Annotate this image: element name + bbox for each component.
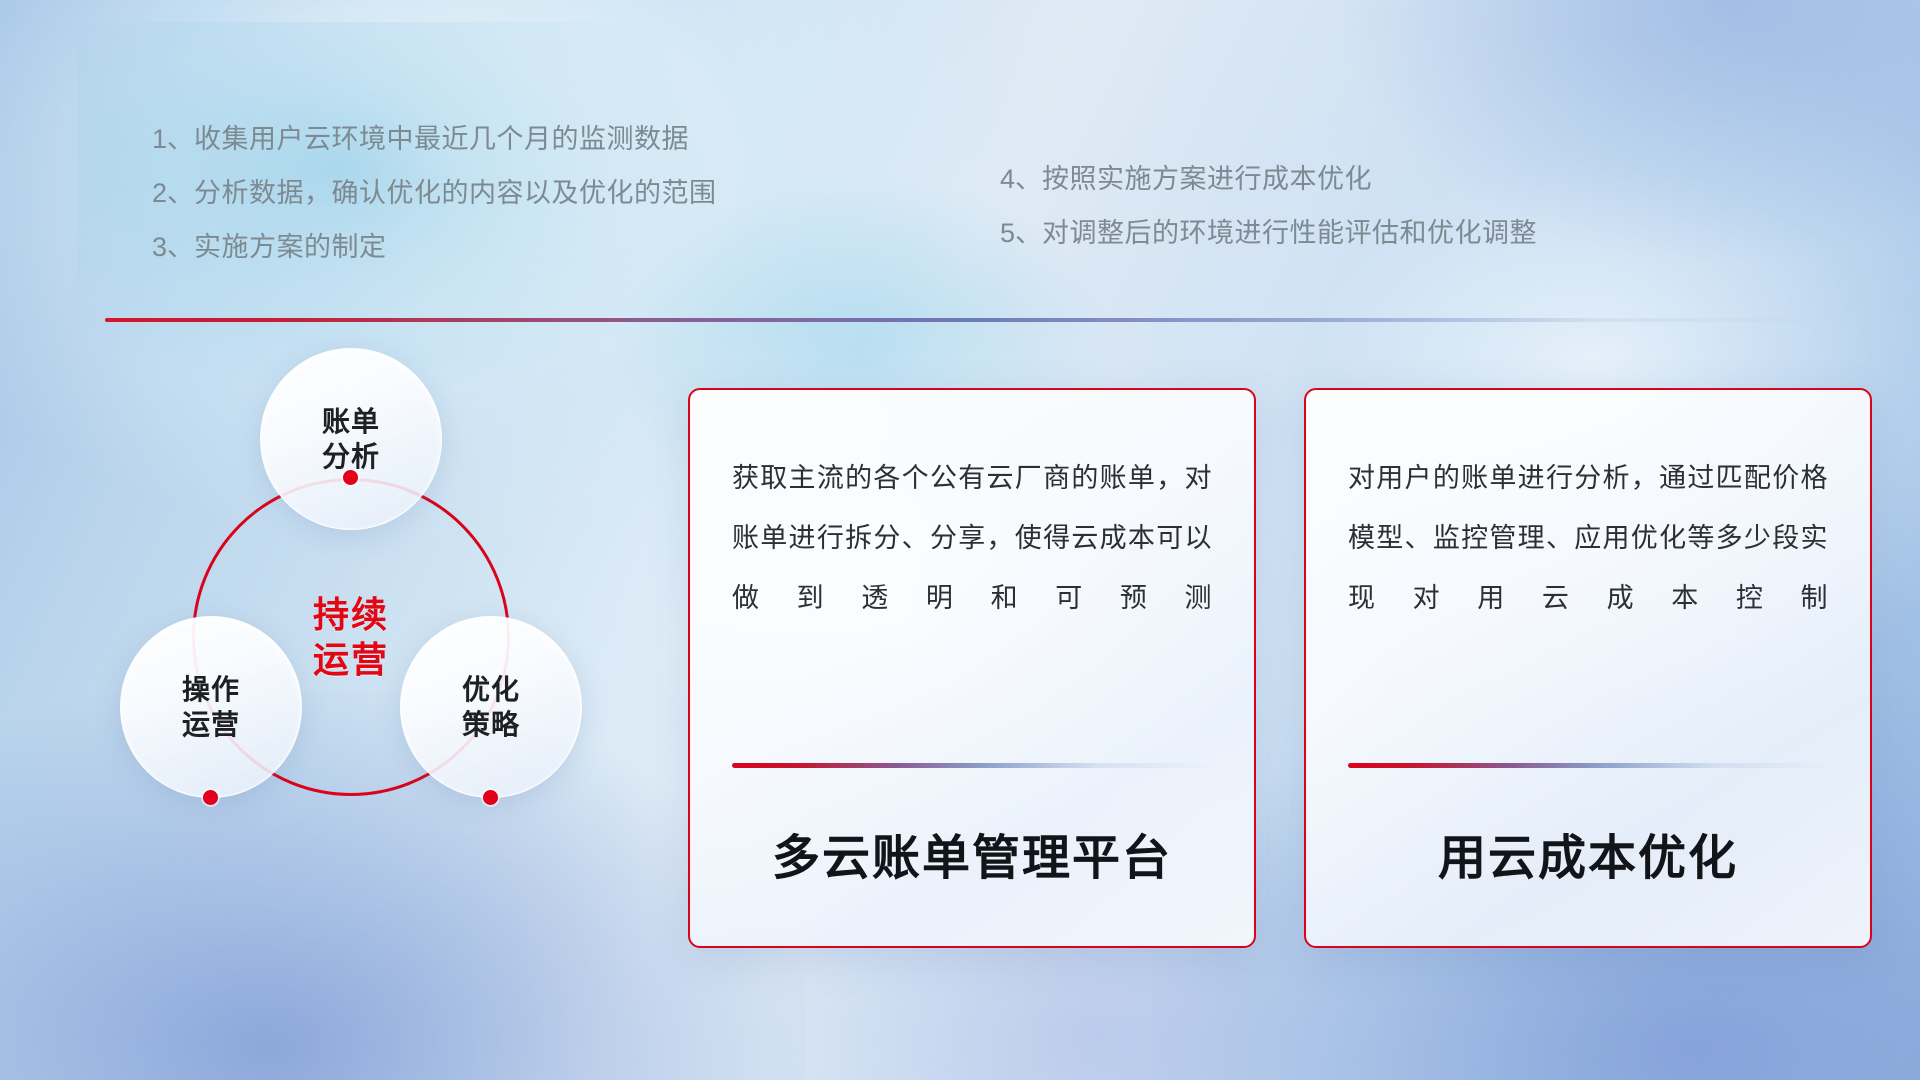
card-title: 用云成本优化 [1306, 818, 1870, 888]
slide-content: 1、收集用户云环境中最近几个月的监测数据 2、分析数据，确认优化的内容以及优化的… [0, 0, 1920, 1080]
step-text: 按照实施方案进行成本优化 [1042, 164, 1372, 194]
step-item: 3、实施方案的制定 [152, 220, 717, 274]
card-divider [732, 763, 1216, 768]
step-text: 实施方案的制定 [194, 232, 387, 262]
steps-right-column: 4、按照实施方案进行成本优化 5、对调整后的环境进行性能评估和优化调整 [1000, 152, 1537, 260]
card-body-text: 对用户的账单进行分析，通过匹配价格模型、监控管理、应用优化等多少段实现对用云成本… [1348, 448, 1828, 628]
diagram-node-dot-left [203, 790, 218, 805]
card-multi-cloud-billing-platform[interactable]: 获取主流的各个公有云厂商的账单，对账单进行拆分、分享，使得云成本可以做到透明和可… [688, 388, 1256, 948]
step-number: 4、 [1000, 164, 1042, 194]
card-title: 多云账单管理平台 [690, 818, 1254, 888]
step-number: 5、 [1000, 218, 1042, 248]
label-line-1: 账单 [322, 404, 380, 439]
card-cloud-cost-optimization[interactable]: 对用户的账单进行分析，通过匹配价格模型、监控管理、应用优化等多少段实现对用云成本… [1304, 388, 1872, 948]
diagram-center-label: 持续 运营 [313, 592, 389, 682]
card-divider [1348, 763, 1832, 768]
step-item: 1、收集用户云环境中最近几个月的监测数据 [152, 112, 717, 166]
step-item: 2、分析数据，确认优化的内容以及优化的范围 [152, 166, 717, 220]
diagram-center: 持续 运营 [192, 478, 510, 796]
section-divider-rule [105, 318, 1893, 322]
step-text: 对调整后的环境进行性能评估和优化调整 [1042, 218, 1537, 248]
steps-left-column: 1、收集用户云环境中最近几个月的监测数据 2、分析数据，确认优化的内容以及优化的… [152, 112, 717, 274]
diagram-node-dot-top [343, 470, 358, 485]
card-body-text: 获取主流的各个公有云厂商的账单，对账单进行拆分、分享，使得云成本可以做到透明和可… [732, 448, 1212, 628]
step-number: 3、 [152, 232, 194, 262]
center-label-line-1: 持续 [313, 592, 389, 637]
diagram-node-dot-right [483, 790, 498, 805]
step-number: 2、 [152, 178, 194, 208]
step-number: 1、 [152, 124, 194, 154]
label-line-2: 分析 [322, 439, 380, 474]
step-item: 5、对调整后的环境进行性能评估和优化调整 [1000, 206, 1537, 260]
center-label-line-2: 运营 [313, 637, 389, 682]
diagram-circle-label: 账单 分析 [322, 404, 380, 474]
step-text: 分析数据，确认优化的内容以及优化的范围 [194, 178, 717, 208]
step-text: 收集用户云环境中最近几个月的监测数据 [194, 124, 689, 154]
continuous-operation-diagram: 账单 分析 操作 运营 优化 策略 持续 运营 [95, 348, 655, 948]
step-item: 4、按照实施方案进行成本优化 [1000, 152, 1537, 206]
